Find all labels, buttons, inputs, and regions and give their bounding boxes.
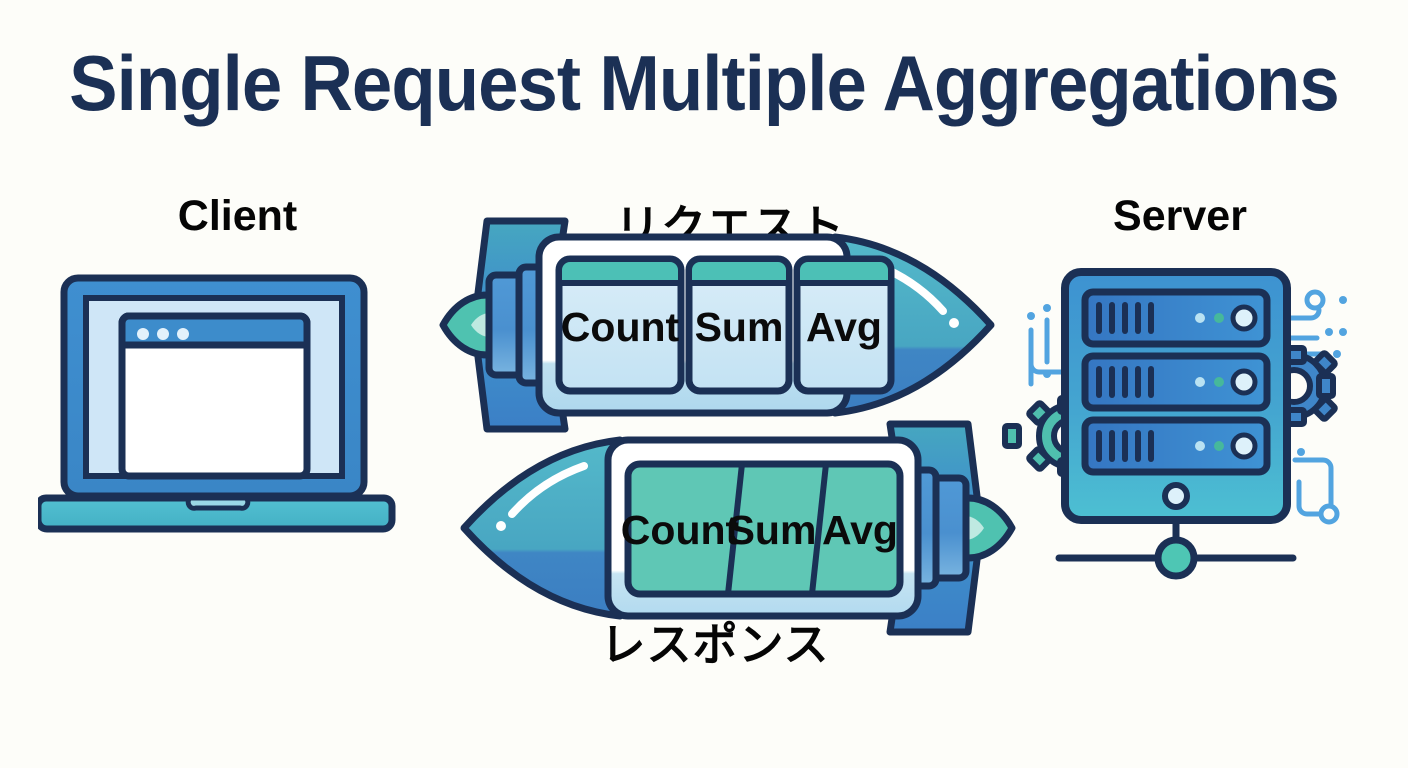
request-card-count-label: Count [561, 304, 680, 350]
rack-led-2 [1214, 377, 1224, 387]
rack-led-3 [1233, 307, 1255, 329]
server-label: Server [1010, 192, 1350, 241]
request-card-avg: Avg [797, 259, 891, 391]
rocket-nose-highlight-dot [949, 318, 959, 328]
browser-titlebar [122, 316, 307, 345]
window-dot-3 [177, 328, 189, 340]
server-rack-unit-1 [1085, 292, 1267, 344]
page-title: Single Request Multiple Aggregations [49, 38, 1358, 129]
response-card-avg-label: Avg [822, 507, 898, 553]
laptop-notch [188, 498, 248, 508]
request-card-sum: Sum [689, 259, 789, 391]
server-illustration [995, 258, 1365, 588]
response-card-count-label: Count [621, 507, 740, 553]
rocket-nose-highlight-dot [496, 521, 506, 531]
rack-led-3 [1233, 371, 1255, 393]
server-power-indicator [1165, 485, 1187, 507]
window-dot-1 [137, 328, 149, 340]
diagram-canvas: Single Request Multiple Aggregations Cli… [0, 0, 1408, 768]
rack-led-1 [1195, 377, 1205, 387]
response-payload-panel: Count Sum Avg [621, 464, 900, 594]
server-network-node [1158, 540, 1194, 576]
rack-led-1 [1195, 313, 1205, 323]
rocket-nose [464, 440, 620, 616]
response-rocket-illustration: Count Sum Avg [420, 418, 1020, 638]
server-rack-unit-2 [1085, 356, 1267, 408]
client-label: Client [60, 192, 415, 241]
rack-led-2 [1214, 441, 1224, 451]
rack-led-3 [1233, 435, 1255, 457]
rack-led-2 [1214, 313, 1224, 323]
rack-led-1 [1195, 441, 1205, 451]
client-laptop-illustration [38, 268, 428, 533]
response-card-sum-label: Sum [728, 507, 817, 553]
request-card-count: Count [559, 259, 681, 391]
request-rocket-illustration: Count Sum Avg [435, 215, 1015, 435]
window-dot-2 [157, 328, 169, 340]
request-card-avg-label: Avg [806, 304, 882, 350]
request-card-sum-label: Sum [695, 304, 784, 350]
server-rack-unit-3 [1085, 420, 1267, 472]
